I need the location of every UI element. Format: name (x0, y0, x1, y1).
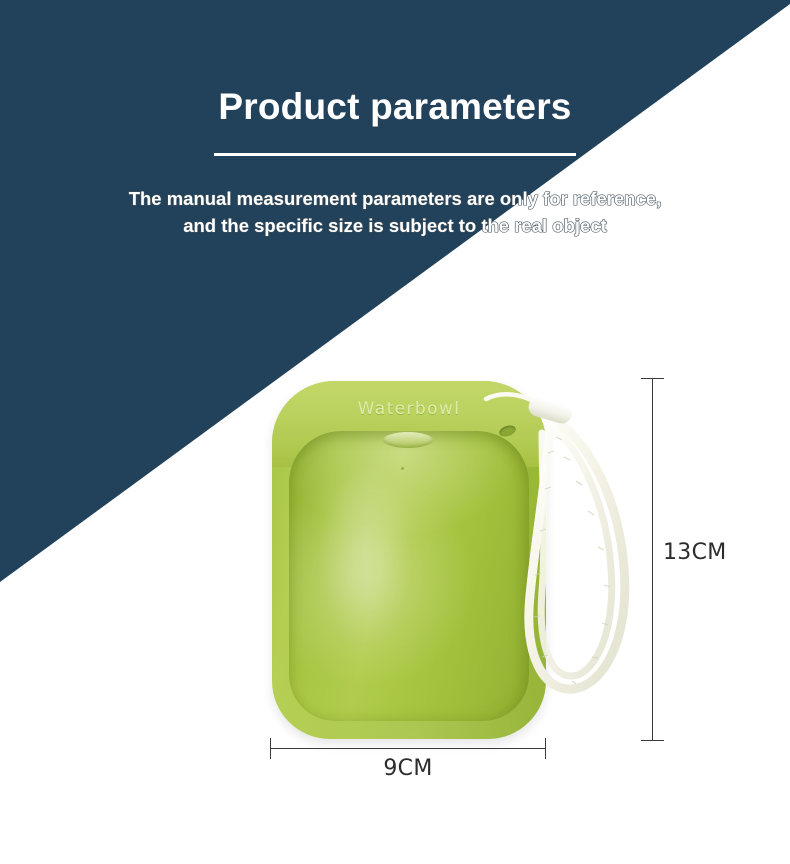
waterbowl-product-image: Waterbowl (272, 381, 546, 739)
bowl-highlight-sheen (318, 467, 430, 717)
bowl-surface-speck (401, 467, 404, 470)
width-dimension-label: 9CM (270, 756, 546, 781)
product-photo-area: Waterbowl (0, 330, 790, 864)
bowl-brand-wordmark: Waterbowl (272, 399, 546, 419)
height-dimension-line (652, 378, 653, 740)
product-parameters-page: Product parameters The manual measuremen… (0, 0, 790, 864)
lanyard-loop-inner (541, 421, 611, 676)
height-dimension-label: 13CM (663, 540, 727, 565)
height-dimension-cap-top (641, 378, 664, 379)
height-dimension-cap-bottom (641, 740, 664, 741)
bowl-drain-oval (383, 432, 433, 448)
width-dimension-line (270, 748, 546, 749)
